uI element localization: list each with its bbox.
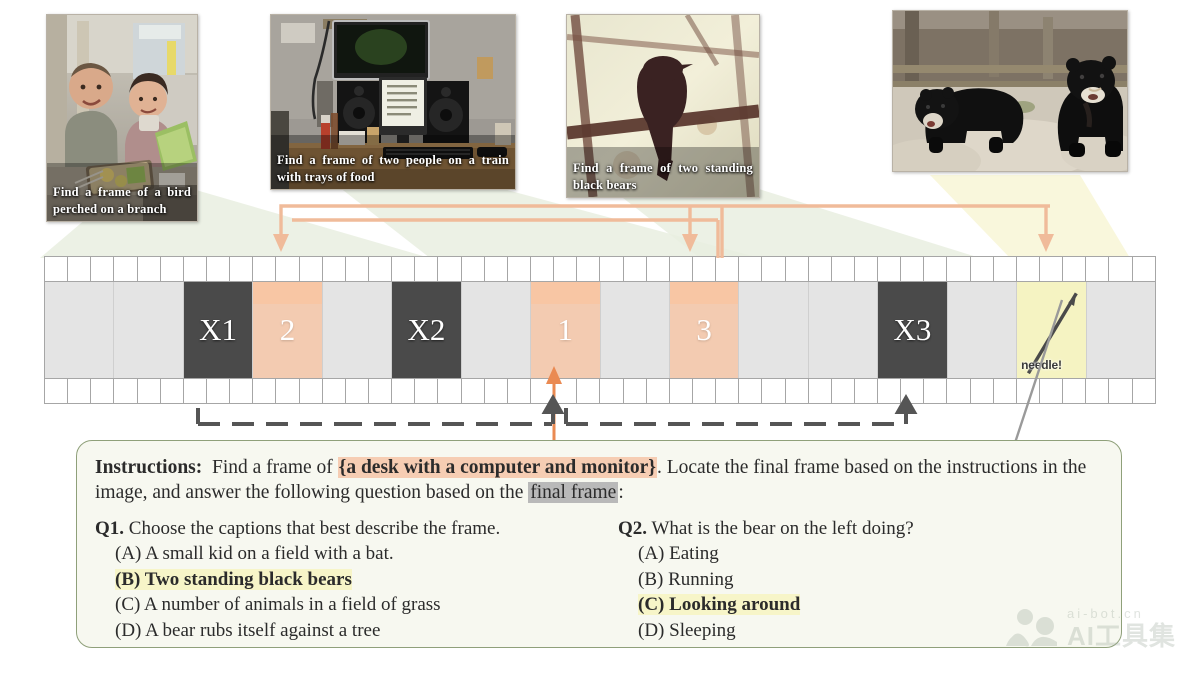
- q1-option-d-key: (D): [115, 620, 141, 641]
- instructions-post: :: [618, 482, 623, 503]
- watermark-name: AI工具集: [1067, 623, 1176, 649]
- instructions-label: Instructions:: [95, 457, 202, 478]
- ai-bot-logo-icon: [1005, 608, 1059, 648]
- q1-option-c[interactable]: (C) A number of animals in a field of gr…: [95, 592, 600, 618]
- q1-option-c-text: A number of animals in a field of grass: [144, 594, 441, 615]
- q1-option-b-text: Two standing black bears: [145, 569, 352, 590]
- arrow-to-cell-3: [682, 234, 698, 252]
- question-2-number: Q2.: [618, 518, 647, 539]
- screenshot-root: Find a frame of a bird perched on a bran…: [0, 0, 1200, 675]
- q1-option-a[interactable]: (A) A small kid on a field with a bat.: [95, 541, 600, 567]
- q1-option-c-key: (C): [115, 594, 140, 615]
- q1-option-b-key: (B): [115, 569, 140, 590]
- q1-option-d-text: A bear rubs itself against a tree: [145, 620, 380, 641]
- q2-option-b-text: Running: [668, 569, 733, 590]
- question-1-text: Choose the captions that best describe t…: [129, 518, 500, 539]
- question-1-column: Q1. Choose the captions that best descri…: [95, 516, 600, 643]
- instruction-card: Instructions: Find a frame of {a desk wi…: [76, 440, 1122, 648]
- question-1-number: Q1.: [95, 518, 124, 539]
- needle-leader-line: [1012, 300, 1062, 452]
- q2-option-d-key: (D): [638, 620, 664, 641]
- arrow-query-to-cell-1: [546, 366, 562, 384]
- q1-option-a-text: A small kid on a field with a bat.: [145, 543, 394, 564]
- q2-option-a-text: Eating: [669, 543, 719, 564]
- q2-option-a[interactable]: (A) Eating: [618, 541, 1105, 567]
- instructions-pre: Find a frame of: [212, 457, 338, 478]
- watermark-url: ai-bot.cn: [1067, 607, 1176, 620]
- instructions-paragraph: Instructions: Find a frame of {a desk wi…: [95, 455, 1105, 505]
- questions-row: Q1. Choose the captions that best descri…: [95, 516, 1105, 643]
- q2-option-b[interactable]: (B) Running: [618, 567, 1105, 593]
- watermark: ai-bot.cn AI工具集: [1005, 607, 1176, 649]
- question-1-header: Q1. Choose the captions that best descri…: [95, 516, 600, 541]
- q2-option-a-key: (A): [638, 543, 664, 564]
- q2-option-b-key: (B): [638, 569, 663, 590]
- instructions-query: {a desk with a computer and monitor}: [338, 457, 657, 478]
- instructions-final-frame-highlight: final frame: [528, 482, 618, 503]
- q1-option-d[interactable]: (D) A bear rubs itself against a tree: [95, 618, 600, 644]
- q1-option-b[interactable]: (B) Two standing black bears: [95, 567, 600, 593]
- q2-option-c-text: Looking around: [669, 594, 800, 615]
- question-2-text: What is the bear on the left doing?: [651, 518, 913, 539]
- span-rulers: [0, 386, 1200, 428]
- q2-option-c-key: (C): [638, 594, 664, 615]
- question-2-header: Q2. What is the bear on the left doing?: [618, 516, 1105, 541]
- q1-option-a-key: (A): [115, 543, 141, 564]
- q2-option-d-text: Sleeping: [669, 620, 736, 641]
- arrow-to-cell-2: [273, 234, 289, 252]
